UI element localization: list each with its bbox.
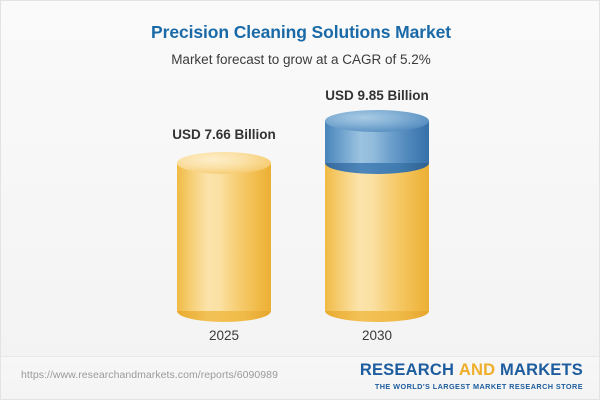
bar-segment-growth: [325, 121, 429, 163]
chart-canvas: Precision Cleaning Solutions Market Mark…: [0, 0, 600, 400]
cylinder-body: [325, 163, 429, 311]
logo-word-markets: MARKETS: [500, 361, 583, 379]
footer: https://www.researchandmarkets.com/repor…: [1, 357, 600, 400]
bar-segment-base: [325, 163, 429, 311]
category-label-2030: 2030: [362, 328, 392, 343]
bar-value-label: USD 9.85 Billion: [325, 88, 429, 103]
brand-logo[interactable]: RESEARCH AND MARKETS THE WORLD'S LARGEST…: [360, 362, 583, 390]
logo-tagline: THE WORLD'S LARGEST MARKET RESEARCH STOR…: [360, 383, 583, 390]
logo-wordmark: RESEARCH AND MARKETS: [360, 362, 583, 379]
bar-value-label: USD 7.66 Billion: [172, 127, 276, 142]
cylinder-top-ellipse: [325, 110, 429, 132]
cylinder-top-ellipse: [177, 152, 271, 174]
bar-segment-base: [177, 163, 271, 311]
plot-area: USD 7.66 Billion 2025 USD 9.85 Billion: [1, 1, 600, 356]
category-label-2025: 2025: [209, 328, 239, 343]
source-url-link[interactable]: https://www.researchandmarkets.com/repor…: [21, 369, 278, 381]
logo-word-and: AND: [459, 361, 495, 379]
logo-word-research: RESEARCH: [360, 361, 454, 379]
cylinder-body: [177, 163, 271, 311]
